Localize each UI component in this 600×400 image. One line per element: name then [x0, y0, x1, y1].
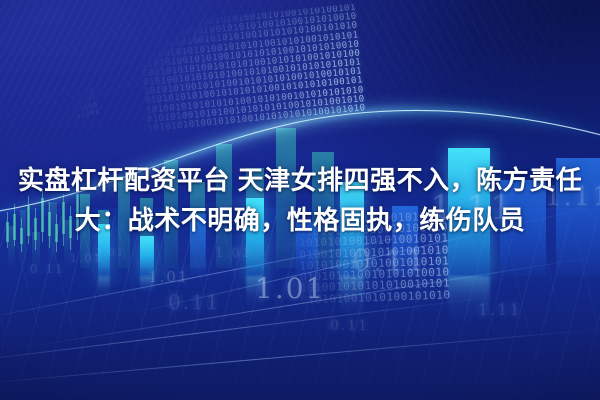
headline: 实盘杠杆配资平台 天津女排四强不入，陈方责任 大：战术不明确，性格固执，练伤队员 — [0, 160, 600, 240]
chart-bar-reflection — [448, 276, 490, 324]
headline-line-2: 大：战术不明确，性格固执，练伤队员 — [0, 200, 600, 240]
headline-line-1: 实盘杠杆配资平台 天津女排四强不入，陈方责任 — [0, 160, 600, 200]
chart-bar-reflection — [140, 276, 154, 294]
chart-bar-reflection — [246, 276, 264, 311]
banner-image: 01010010101001010 10101010010100101 0100… — [0, 0, 600, 400]
chart-bar-reflection — [340, 276, 364, 318]
diagonal-hairlines-secondary — [108, 0, 600, 180]
chart-bar-reflection — [98, 276, 110, 299]
chart-bar-front — [140, 236, 154, 276]
